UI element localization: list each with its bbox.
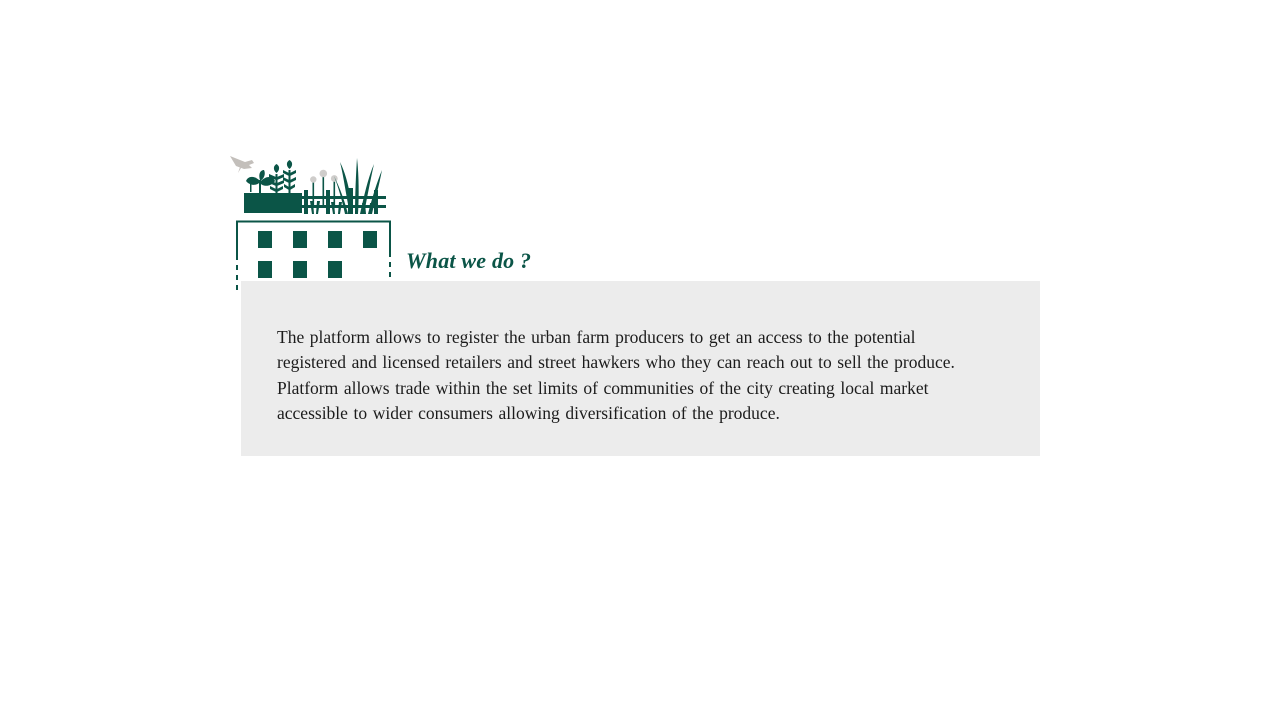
planter-box bbox=[244, 193, 302, 213]
wheat-plants bbox=[250, 160, 296, 193]
bird-icon bbox=[230, 156, 254, 173]
body-content-panel: The platform allows to register the urba… bbox=[241, 281, 1040, 456]
dandelion-flowers bbox=[310, 170, 338, 206]
building-windows-row-one bbox=[258, 231, 377, 248]
section-heading: What we do ? bbox=[406, 247, 531, 275]
body-paragraph: The platform allows to register the urba… bbox=[277, 325, 989, 427]
slide-canvas: What we do ? The platform allows to regi… bbox=[0, 0, 1280, 720]
urban-farm-illustration bbox=[228, 148, 403, 293]
building-windows-row-two bbox=[258, 261, 342, 278]
